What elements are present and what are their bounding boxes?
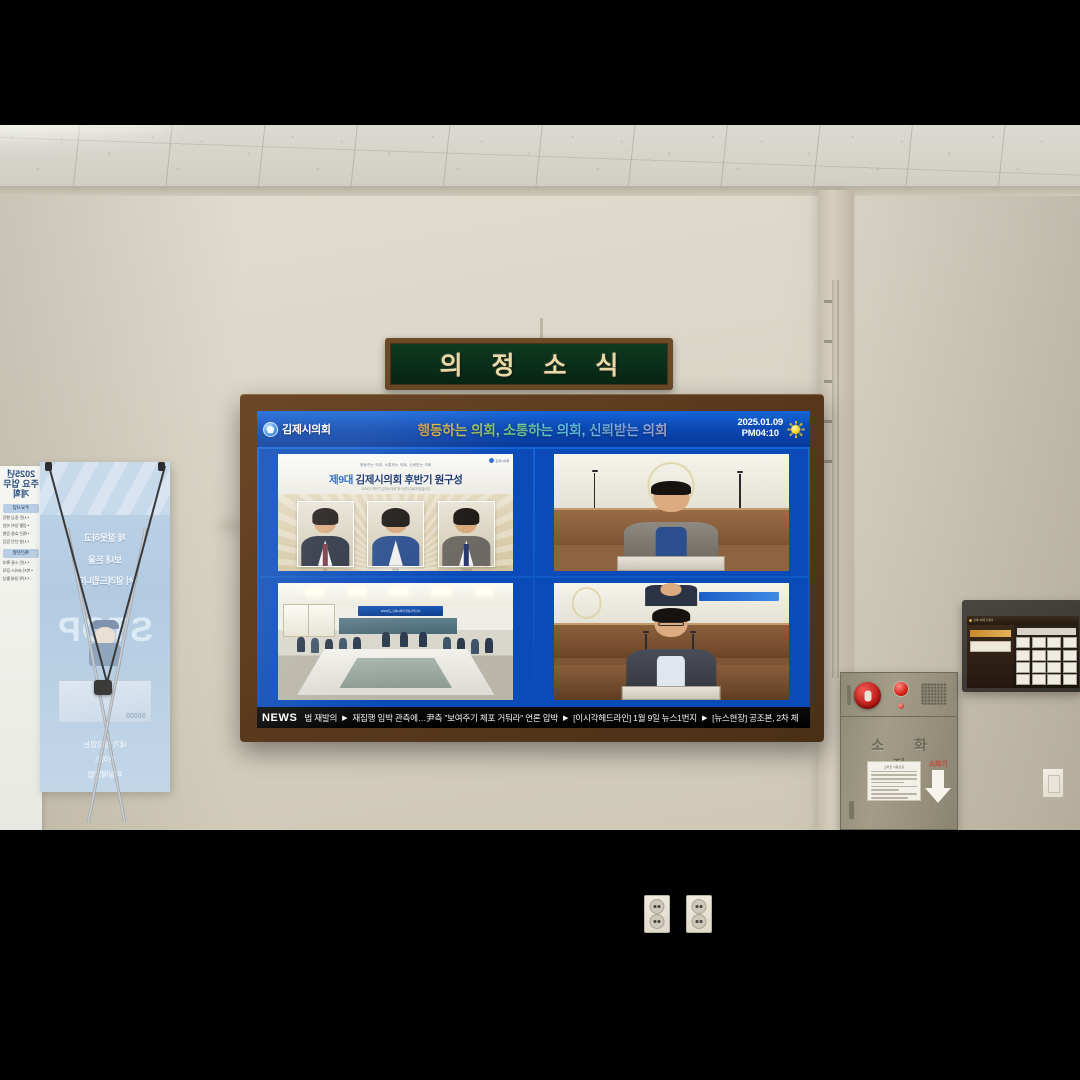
news-ticker-label: NEWS [262,712,297,724]
down-arrow-icon: 소화기 [925,759,951,803]
broadcast-header-bar: 김제시의회 행동하는 의회, 소통하는 의회, 신뢰받는 의회 2025.01.… [257,411,810,447]
poster-subtitle: 행동하는 의회, 소통하는 의회, 신뢰받는 의회 [278,463,513,468]
poster-datenote: 2024년 하반기 김제시의회 원구성이 완료되었습니다 [278,486,513,491]
monitor-video-region [967,625,1014,688]
arrow-label: 소화기 [925,759,951,769]
conference-window [283,604,335,637]
news-ticker-item[interactable]: 재집행 임박 관측에…尹측 "보여주기 체포 거둬라" 언론 압박 [352,712,558,724]
alarm-lamp-icon [893,681,909,697]
monitor-header-label: 김제시의회 본회의 [974,618,994,622]
monitor-vote-board [1014,625,1079,688]
poster-person-role: 부의장 [367,568,424,571]
poster-title-prefix: 제9대 [329,474,353,486]
pane-speaker-lower[interactable] [535,578,809,705]
speaker-hair [651,481,691,495]
pillar-slot [824,300,832,303]
alarm-bell-center [864,690,871,701]
speaker-glasses-icon [658,622,684,627]
conference-back-panel [339,618,457,634]
room-sign-plate: 의 정 소 식 [390,343,668,385]
switch-rocker[interactable] [1048,775,1060,793]
room-sign-text: 의 정 소 식 [429,346,630,382]
letterbox-bottom [0,955,1080,1080]
pane-conference-content: 2024년도 김제시의회 행정사무감사 [278,583,513,700]
conference-table-center [339,658,452,688]
letterbox-top [0,0,1080,125]
chamber-mic-stand [594,473,596,508]
room-sign: 의 정 소 식 [385,338,673,390]
poster-graphic: 김제시의회 행동하는 의회, 소통하는 의회, 신뢰받는 의회 제9대 김제시의… [278,454,513,571]
alarm-led-icon [898,703,904,709]
banknote-value: 50000 [126,713,145,720]
wall-conduit [832,280,839,678]
banner-line: 제 잘못하고 [40,531,170,544]
chamber-caption-bar [699,592,779,600]
banner-footer-line: 보이스 [40,754,170,765]
monitor-info-card [970,641,1011,652]
poster-person: 의장 한수경 [297,501,354,571]
video-wall-bezel: 김제시의회 행동하는 의회, 소통하는 의회, 신뢰받는 의회 2025.01.… [240,394,824,742]
chamber-scene [554,583,789,700]
pillar-slot [824,340,832,343]
fire-cabinet-alarm-panel [841,673,957,717]
banner-line: 서 알려드립니다 [40,574,170,587]
pane-speaker-upper-content [554,454,789,571]
wall-ceiling-trim [0,186,1080,196]
conference-room-scene: 2024년도 김제시의회 행정사무감사 [278,583,513,700]
poster-person-role: 의장 [297,568,354,571]
play-arrow-icon: ▶ [563,714,568,722]
poster-footer: GIMJE CITY COUNCIL [469,565,509,569]
monitor-top-bar: 김제시의회 본회의 [967,616,1079,625]
news-ticker-item[interactable]: [이시각헤드라인] 1월 9일 뉴스1번지 [573,712,697,724]
news-ticker[interactable]: NEWS 법 재발의 ▶ 재집행 임박 관측에…尹측 "보여주기 체포 거둬라"… [257,707,810,728]
news-ticker-item[interactable]: 법 재발의 [304,712,337,724]
pane-speaker-lower-content [554,583,789,700]
poster-badge-text: 김제시의회 [496,459,510,463]
poster-person: 운영위원장 오승택 [438,501,495,571]
light-switch-icon[interactable] [1042,768,1064,798]
speaker-hair [652,608,690,622]
monitor-status-icon [969,619,972,622]
side-monitor[interactable]: 김제시의회 본회의 [962,600,1080,692]
broadcast-slogan: 행동하는 의회, 소통하는 의회, 신뢰받는 의회 [379,419,706,439]
play-arrow-icon: ▶ [702,714,707,722]
poster-person-photo [297,501,354,567]
banner-footer-line: 피싱예방법 [40,769,170,780]
poster-person-photo [367,501,424,567]
cabinet-handle[interactable] [847,685,851,705]
news-ticker-item[interactable]: [뉴스현장] 공조본, 2차 체 [712,712,798,724]
vote-board-grid [1016,637,1077,685]
monitor-panel-title [970,630,1011,638]
quad-view: 김제시의회 행동하는 의회, 소통하는 의회, 신뢰받는 의회 제9대 김제시의… [257,447,810,707]
poster-badge-icon [489,458,494,463]
pane-conference[interactable]: 2024년도 김제시의회 행정사무감사 [259,578,533,705]
power-outlet-icon [686,895,712,933]
datetime-group: 2025.01.09 PM04:10 [706,418,804,439]
fire-cabinet-instruction-label: 소화전 사용요령 [867,761,921,801]
pane-speaker-upper[interactable] [535,449,809,576]
scene-root: 의 정 소 식 김제시의회 행동하는 의회, 소통하는 의회, 신뢰받는 의회 … [0,0,1080,1080]
conference-ceiling [278,583,513,606]
speaker-grille-icon [921,683,947,705]
vote-board-header [1017,628,1077,635]
cabinet-lower-handle[interactable] [849,801,854,819]
datetime-block: 2025.01.09 PM04:10 [737,418,783,439]
chamber-scene [554,454,789,571]
pillar-slot [824,380,832,383]
poster-badge: 김제시의회 [489,458,509,463]
instruction-label-title: 소화전 사용요령 [871,765,917,769]
chamber-podium [622,686,721,700]
conference-banner: 2024년도 김제시의회 행정사무감사 [358,606,443,615]
pane-poster[interactable]: 김제시의회 행동하는 의회, 소통하는 의회, 신뢰받는 의회 제9대 김제시의… [259,449,533,576]
council-logo: 김제시의회 [263,421,379,437]
pillar-slot [824,420,832,423]
banner-clip [45,462,52,471]
poster-title: 제9대 김제시의회 후반기 원구성 [278,472,513,487]
play-arrow-icon: ▶ [342,714,347,722]
news-ticker-items: 법 재발의 ▶ 재집행 임박 관측에…尹측 "보여주기 체포 거둬라" 언론 압… [304,712,798,724]
chamber-mic-stand [739,474,741,508]
chamber-podium [617,556,725,571]
alarm-bell-icon[interactable] [854,682,881,709]
chamber-emblem-icon [571,587,602,619]
poster-person-photo [438,501,495,567]
video-wall-screen[interactable]: 김제시의회 행동하는 의회, 소통하는 의회, 신뢰받는 의회 2025.01.… [257,411,810,728]
pillar-slot [824,460,832,463]
x-banner-stand: 제 잘못하고 보내 돈을 서 알려드립니다 STOP 50000 내가 알고있는… [26,462,180,830]
banner-clip [158,462,165,471]
council-emblem-icon [263,422,278,437]
sun-icon [787,421,804,438]
side-monitor-screen[interactable]: 김제시의회 본회의 [967,616,1079,688]
pane-poster-content: 김제시의회 행동하는 의회, 소통하는 의회, 신뢰받는 의회 제9대 김제시의… [278,454,513,571]
poster-title-rest: 김제시의회 후반기 원구성 [356,474,463,486]
power-outlet-icon [644,895,670,933]
fire-hydrant-cabinet[interactable]: 소 화 전 소화전 사용요령 소화기 [840,672,958,830]
conference-banner-text: 2024년도 김제시의회 행정사무감사 [381,609,420,613]
banner-line: 보내 돈을 [40,553,170,566]
banner-center-hub [94,680,112,695]
poster-people-row: 의장 한수경 부의장 문순자 [278,501,513,562]
background-person-head [661,583,682,596]
broadcast-time: PM04:10 [737,429,783,440]
poster-person: 부의장 문순자 [367,501,424,571]
council-logo-text: 김제시의회 [282,421,331,437]
